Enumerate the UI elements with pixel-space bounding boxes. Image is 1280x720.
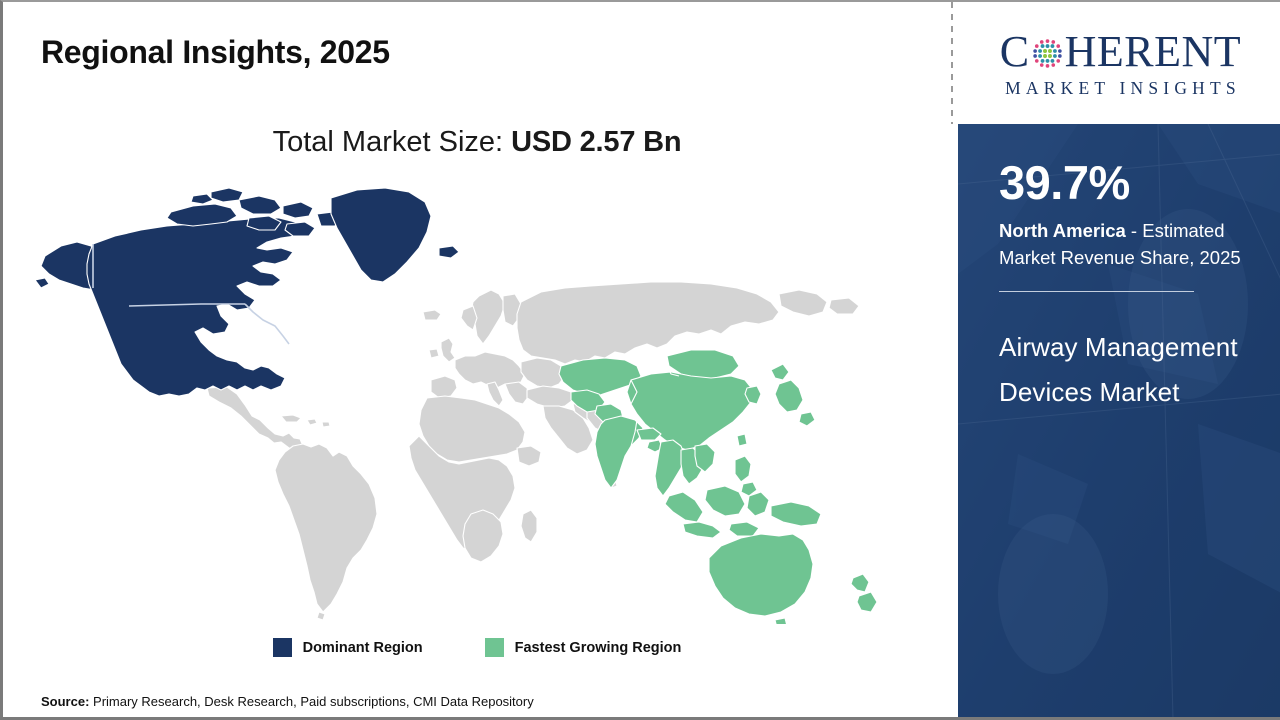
vertical-divider	[951, 2, 953, 124]
panel-divider	[999, 291, 1194, 292]
world-map-svg	[31, 184, 911, 624]
source-text: Primary Research, Desk Research, Paid su…	[89, 694, 533, 709]
page-title: Regional Insights, 2025	[41, 34, 390, 71]
highlight-panel: 39.7% North America - Estimated Market R…	[958, 124, 1280, 719]
legend-label-dominant: Dominant Region	[303, 640, 423, 656]
market-name: Airway Management Devices Market	[999, 325, 1269, 413]
green-swatch-icon	[485, 638, 504, 657]
logo-subtitle: MARKET INSIGHTS	[1000, 78, 1241, 99]
dotted-sphere-icon	[1031, 37, 1064, 70]
total-market-size-label: Total Market Size:	[273, 126, 512, 158]
logo-wordmark: C	[1000, 28, 1241, 76]
world-map	[31, 184, 911, 624]
regional-insights-infographic: Regional Insights, 2025 Total Market Siz…	[0, 0, 1280, 720]
logo-letter-c: C	[1000, 30, 1030, 74]
share-region-name: North America	[999, 220, 1126, 241]
legend-label-fastest: Fastest Growing Region	[515, 640, 682, 656]
total-market-size: Total Market Size: USD 2.57 Bn	[3, 126, 951, 159]
panel-content: 39.7% North America - Estimated Market R…	[999, 159, 1269, 414]
map-region-asia-pacific	[559, 350, 877, 624]
map-region-north-america	[35, 188, 459, 396]
brand-logo: C	[958, 2, 1280, 124]
logo-text-herent: HERENT	[1065, 30, 1242, 74]
legend-item-fastest: Fastest Growing Region	[485, 638, 682, 657]
total-market-size-value: USD 2.57 Bn	[511, 126, 681, 158]
source-prefix: Source:	[41, 694, 89, 709]
left-content-pane: Regional Insights, 2025 Total Market Siz…	[3, 2, 951, 719]
navy-swatch-icon	[273, 638, 292, 657]
share-caption: North America - Estimated Market Revenue…	[999, 217, 1269, 271]
share-percentage: 39.7%	[999, 159, 1269, 206]
legend-item-dominant: Dominant Region	[273, 638, 423, 657]
source-note: Source: Primary Research, Desk Research,…	[41, 694, 534, 709]
map-legend: Dominant Region Fastest Growing Region	[3, 638, 951, 657]
